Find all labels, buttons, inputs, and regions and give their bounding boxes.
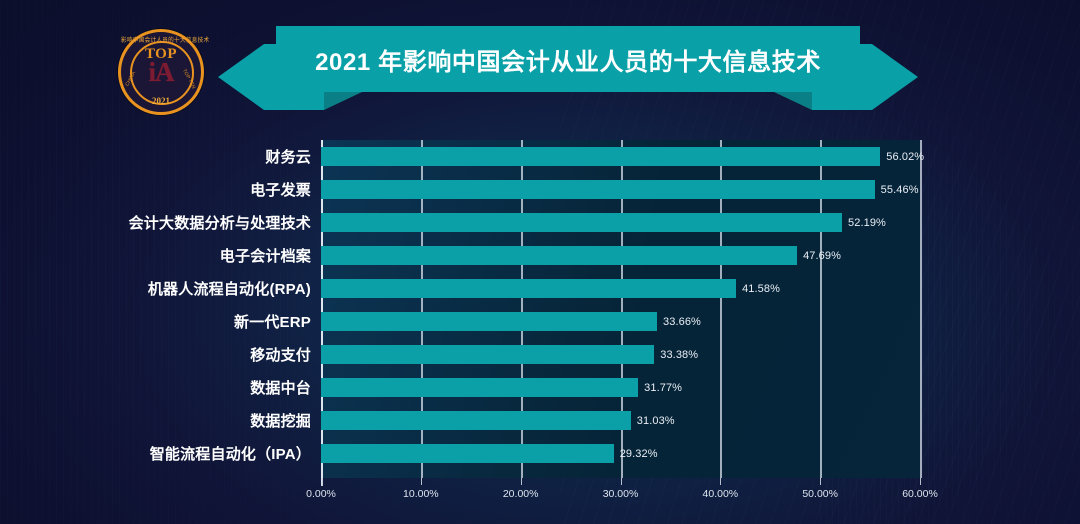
bar-track: 41.58% <box>321 272 1021 305</box>
x-tick-label: 30.00% <box>603 488 639 500</box>
x-tick-label: 10.00% <box>403 488 439 500</box>
bar[interactable] <box>321 312 657 331</box>
x-tick-mark <box>421 478 422 485</box>
bar-row: 新一代ERP33.66% <box>0 305 1080 338</box>
x-tick-label: 50.00% <box>802 488 838 500</box>
x-tick-label: 20.00% <box>503 488 539 500</box>
bar-track: 33.38% <box>321 338 1021 371</box>
x-tick-mark <box>820 478 821 485</box>
x-tick-mark <box>521 478 522 485</box>
bar[interactable] <box>321 378 638 397</box>
bar-row: 会计大数据分析与处理技术52.19% <box>0 206 1080 239</box>
x-tick-mark <box>920 478 921 485</box>
bar-category-label: 智能流程自动化（IPA） <box>0 437 311 470</box>
bar[interactable] <box>321 147 880 166</box>
bar-category-label: 电子会计档案 <box>0 239 311 272</box>
bar-track: 29.32% <box>321 437 1021 470</box>
bar-row: 机器人流程自动化(RPA)41.58% <box>0 272 1080 305</box>
bar-row: 数据中台31.77% <box>0 371 1080 404</box>
bar-track: 52.19% <box>321 206 1021 239</box>
bar-track: 47.69% <box>321 239 1021 272</box>
bar-track: 31.03% <box>321 404 1021 437</box>
bar[interactable] <box>321 345 654 364</box>
bar[interactable] <box>321 246 797 265</box>
bar-value-label: 47.69% <box>803 239 841 272</box>
bar-chart: 财务云56.02%电子发票55.46%会计大数据分析与处理技术52.19%电子会… <box>0 118 1080 524</box>
bar-value-label: 33.38% <box>660 338 698 371</box>
bar-value-label: 52.19% <box>848 206 886 239</box>
x-tick-label: 0.00% <box>306 488 336 500</box>
title-banner: 2021 年影响中国会计从业人员的十大信息技术 <box>218 26 918 92</box>
bar-value-label: 29.32% <box>620 437 658 470</box>
bar-value-label: 55.46% <box>881 173 919 206</box>
bar-row: 数据挖掘31.03% <box>0 404 1080 437</box>
bar-value-label: 31.03% <box>637 404 675 437</box>
bar[interactable] <box>321 213 842 232</box>
bar-row: 智能流程自动化（IPA）29.32% <box>0 437 1080 470</box>
bar-row: 财务云56.02% <box>0 140 1080 173</box>
bar-category-label: 新一代ERP <box>0 305 311 338</box>
x-tick-mark <box>321 478 322 485</box>
page-title: 2021 年影响中国会计从业人员的十大信息技术 <box>276 26 860 92</box>
x-tick-mark <box>621 478 622 485</box>
bar-value-label: 33.66% <box>663 305 701 338</box>
bar-category-label: 会计大数据分析与处理技术 <box>0 206 311 239</box>
bar-category-label: 数据中台 <box>0 371 311 404</box>
logo-year-text: 2021 <box>121 97 201 106</box>
bar-category-label: 移动支付 <box>0 338 311 371</box>
bar-category-label: 电子发票 <box>0 173 311 206</box>
bar-category-label: 财务云 <box>0 140 311 173</box>
x-tick-label: 40.00% <box>703 488 739 500</box>
bar-category-label: 数据挖掘 <box>0 404 311 437</box>
bar-track: 56.02% <box>321 140 1021 173</box>
bar-row: 移动支付33.38% <box>0 338 1080 371</box>
x-tick-mark <box>720 478 721 485</box>
bar[interactable] <box>321 180 875 199</box>
logo-arc-top-text: 影响中国会计人员的十大信息技术 <box>121 36 201 45</box>
bar-track: 55.46% <box>321 173 1021 206</box>
bar-track: 31.77% <box>321 371 1021 404</box>
bar-value-label: 56.02% <box>886 140 924 173</box>
bar-row: 电子会计档案47.69% <box>0 239 1080 272</box>
top-ia-logo: 影响中国会计人员的十大信息技术 TOP iA CHINA TOP TEN 202… <box>118 29 204 115</box>
bar[interactable] <box>321 411 631 430</box>
bar-track: 33.66% <box>321 305 1021 338</box>
bar[interactable] <box>321 444 614 463</box>
x-tick-label: 60.00% <box>902 488 938 500</box>
bar-value-label: 31.77% <box>644 371 682 404</box>
bar-category-label: 机器人流程自动化(RPA) <box>0 272 311 305</box>
bar[interactable] <box>321 279 736 298</box>
x-axis: 0.00%10.00%20.00%30.00%40.00%50.00%60.00… <box>0 478 1080 518</box>
bar-row: 电子发票55.46% <box>0 173 1080 206</box>
header: 影响中国会计人员的十大信息技术 TOP iA CHINA TOP TEN 202… <box>0 0 1080 120</box>
bar-value-label: 41.58% <box>742 272 780 305</box>
